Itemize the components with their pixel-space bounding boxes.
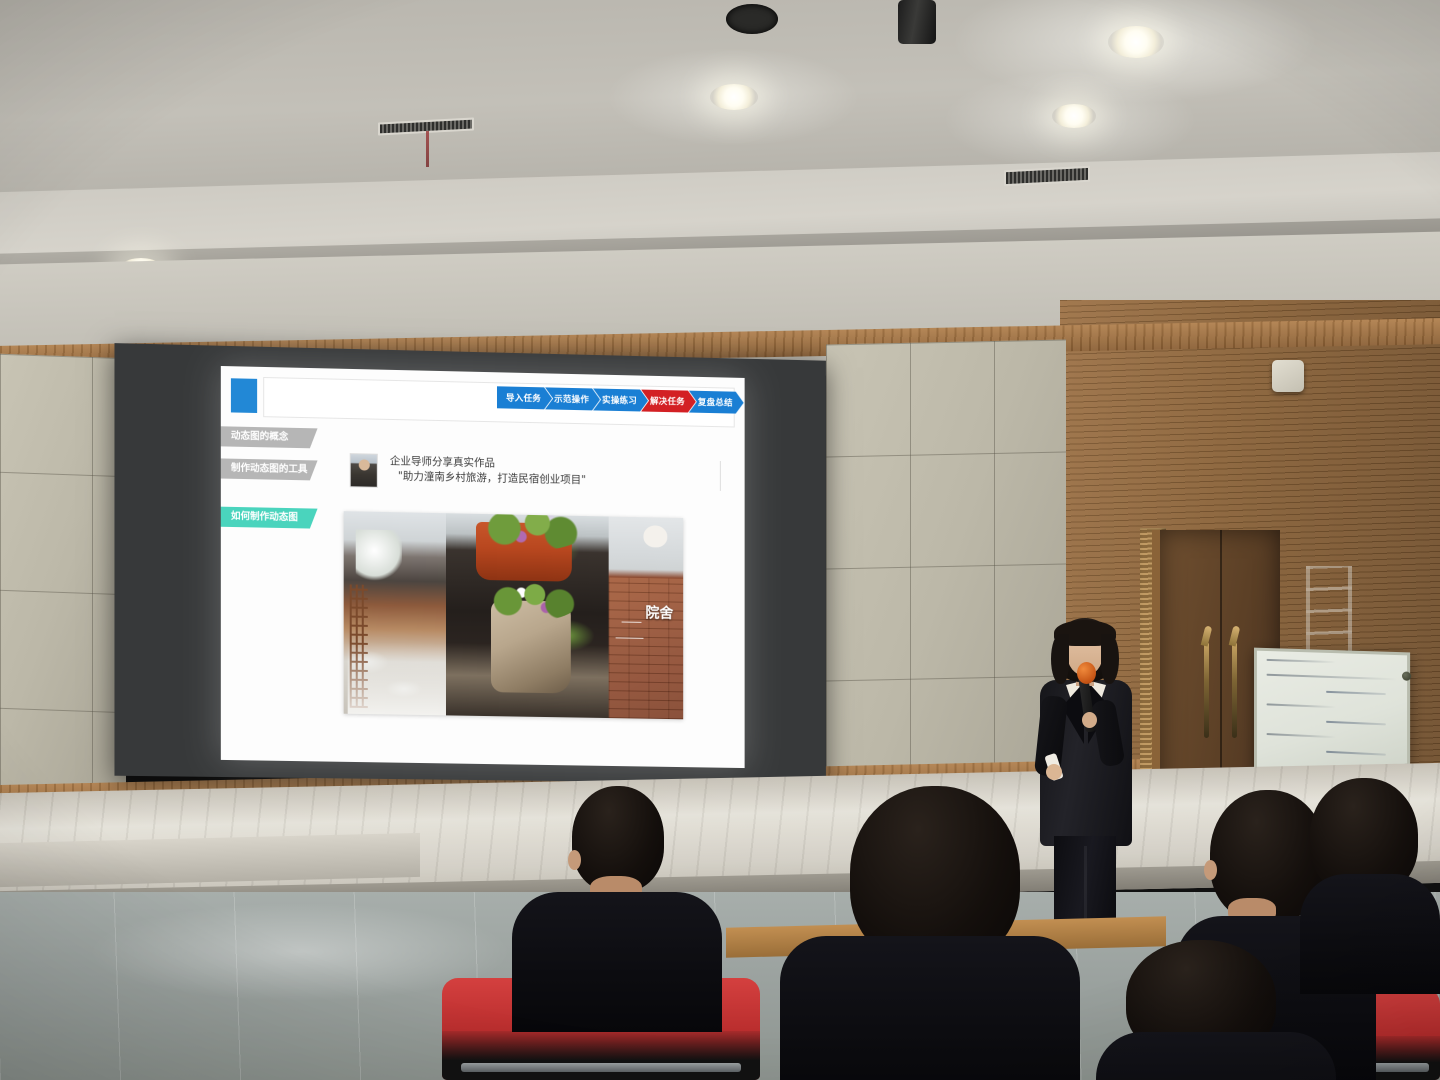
audience-member-far-right: [1096, 940, 1336, 1080]
whiteboard-line: [1326, 721, 1386, 726]
seat-shadow: [442, 1031, 760, 1080]
sidebar-chip-concept[interactable]: 动态图的概念: [221, 426, 318, 448]
homestay-photo-collage: 院舍: [344, 511, 683, 719]
whiteboard-line: [1326, 691, 1386, 695]
sidebar-chip-tools[interactable]: 制作动态图的工具: [221, 458, 318, 480]
downlight-recess-1: [726, 4, 778, 34]
collage-panel-snowy-courtyard: [344, 511, 446, 715]
door-handle-left-icon[interactable]: [1204, 642, 1209, 738]
chevron-step-1[interactable]: 导入任务: [497, 386, 552, 409]
wall-speaker-icon: [1272, 360, 1304, 392]
white-figurine: [643, 525, 667, 547]
whiteboard-line: [1267, 674, 1397, 681]
chevron-step-4-active[interactable]: 解决任务: [641, 390, 696, 413]
downlight-1: [1108, 26, 1164, 58]
audience-shoulders: [780, 936, 1080, 1080]
chevron-step-2[interactable]: 示范操作: [545, 387, 600, 410]
whiteboard-line: [1267, 703, 1337, 708]
presenter-hair-side-left: [1051, 634, 1069, 684]
sidebar-chip-howto-active[interactable]: 如何制作动态图: [221, 507, 318, 529]
presenter-hair-side-right: [1101, 634, 1119, 684]
collage-panel-brick-wall: 院舍: [609, 517, 683, 720]
whiteboard-handwriting: [1267, 659, 1397, 775]
presentation-slide[interactable]: 导入任务 示范操作 实操练习 解决任务 复盘总结 动态图的概念 制作动态图的工具…: [221, 366, 745, 768]
whiteboard-line: [1267, 733, 1337, 738]
brick-wall-text: 院舍: [645, 607, 673, 622]
audience-ear: [568, 850, 581, 870]
whiteboard-line: [1326, 751, 1386, 756]
audience-ear: [1204, 860, 1217, 880]
presenter-hand-left: [1046, 764, 1062, 780]
collage-panel-stone-planters: [446, 513, 609, 718]
whiteboard-line: [1267, 659, 1337, 663]
chevron-step-5[interactable]: 复盘总结: [689, 391, 744, 414]
track-light-icon: [898, 0, 936, 44]
audience-shoulders: [512, 892, 722, 1032]
slide-content: 导入任务 示范操作 实操练习 解决任务 复盘总结 动态图的概念 制作动态图的工具…: [221, 366, 745, 768]
brick-texture: [609, 577, 683, 719]
seat-metal-bar: [461, 1063, 741, 1072]
downlight-3: [1052, 104, 1096, 128]
mentor-portrait-avatar: [350, 453, 378, 488]
panel-grid-left: [0, 354, 126, 794]
conference-hall-scene: 导入任务 示范操作 实操练习 解决任务 复盘总结 动态图的概念 制作动态图的工具…: [0, 0, 1440, 1080]
mentor-headline-row: 企业导师分享真实作品 "助力潼南乡村旅游，打造民宿创业项目": [350, 453, 721, 495]
presenter-hand-right: [1082, 712, 1097, 728]
slide-accent-block: [231, 378, 257, 413]
wooden-fence-detail: [350, 584, 368, 708]
whiteboard-knob-top: [1402, 671, 1411, 680]
mentor-headline-text: 企业导师分享真实作品 "助力潼南乡村旅游，打造民宿创业项目": [390, 454, 721, 491]
door-handle-right-icon[interactable]: [1232, 642, 1237, 738]
downlight-2: [710, 84, 758, 110]
audience-member-front-left: [512, 786, 722, 1026]
audience-member-front-center: [780, 786, 1080, 1080]
red-ribbon-marker: [426, 131, 429, 167]
audience-shoulders: [1096, 1032, 1336, 1080]
chevron-step-3[interactable]: 实操练习: [593, 388, 648, 411]
microphone-head-icon: [1077, 662, 1096, 684]
acoustic-panel-wall-left: [0, 354, 126, 794]
